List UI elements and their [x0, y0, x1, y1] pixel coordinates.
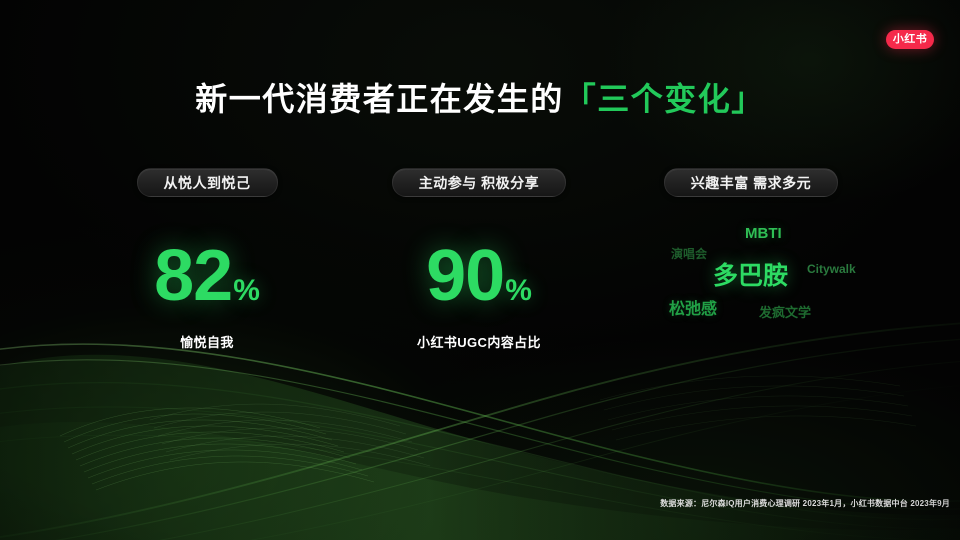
stat-number-2: 90 — [426, 236, 504, 316]
word-cloud-term-relaxed: 松弛感 — [669, 302, 717, 318]
stat-unit-1: % — [233, 274, 260, 307]
stat-unit-2: % — [505, 274, 532, 307]
title-prefix: 新一代消费者正在发生的 — [195, 81, 564, 117]
title-highlight: 三个变化 — [597, 81, 731, 117]
word-cloud-term-mbti: MBTI — [745, 226, 782, 241]
word-cloud-term-dopamine: 多巴胺 — [713, 264, 788, 289]
title-bracket-close: 」 — [731, 81, 765, 117]
word-cloud-term-citywalk: Citywalk — [807, 263, 856, 275]
word-cloud-term-madlit: 发疯文学 — [759, 306, 811, 319]
pill-label-1: 从悦人到悦己 — [137, 168, 278, 197]
xiaohongshu-logo: 小红书 — [886, 30, 934, 49]
logo-label: 小红书 — [893, 34, 927, 44]
page-title: 新一代消费者正在发生的「三个变化」 — [0, 74, 960, 120]
stat-2: 90% — [329, 240, 629, 312]
columns-container: 从悦人到悦己 82% 愉悦自我 主动参与 积极分享 90% 小红书UGC内容占比… — [0, 168, 960, 378]
stat-caption-2: 小红书UGC内容占比 — [329, 332, 629, 351]
stat-number-1: 82 — [154, 236, 232, 316]
stat-1: 82% — [57, 240, 357, 312]
column-1: 从悦人到悦己 82% 愉悦自我 — [57, 168, 357, 197]
column-2: 主动参与 积极分享 90% 小红书UGC内容占比 — [329, 168, 629, 197]
column-3: 兴趣丰富 需求多元 MBTI 演唱会 多巴胺 Citywalk 松弛感 发疯文学 — [601, 168, 901, 197]
title-bracket-open: 「 — [564, 81, 598, 117]
slide-canvas: 小红书 新一代消费者正在发生的「三个变化」 从悦人到悦己 82% 愉悦自我 主动… — [0, 0, 960, 540]
word-cloud-term-concert: 演唱会 — [671, 248, 707, 260]
interest-word-cloud: MBTI 演唱会 多巴胺 Citywalk 松弛感 发疯文学 — [601, 230, 901, 345]
pill-label-3: 兴趣丰富 需求多元 — [664, 168, 838, 197]
data-source-footnote: 数据来源：尼尔森IQ用户消费心理调研 2023年1月，小红书数据中台 2023年… — [660, 498, 950, 509]
stat-caption-1: 愉悦自我 — [57, 332, 357, 351]
pill-label-2: 主动参与 积极分享 — [392, 168, 566, 197]
